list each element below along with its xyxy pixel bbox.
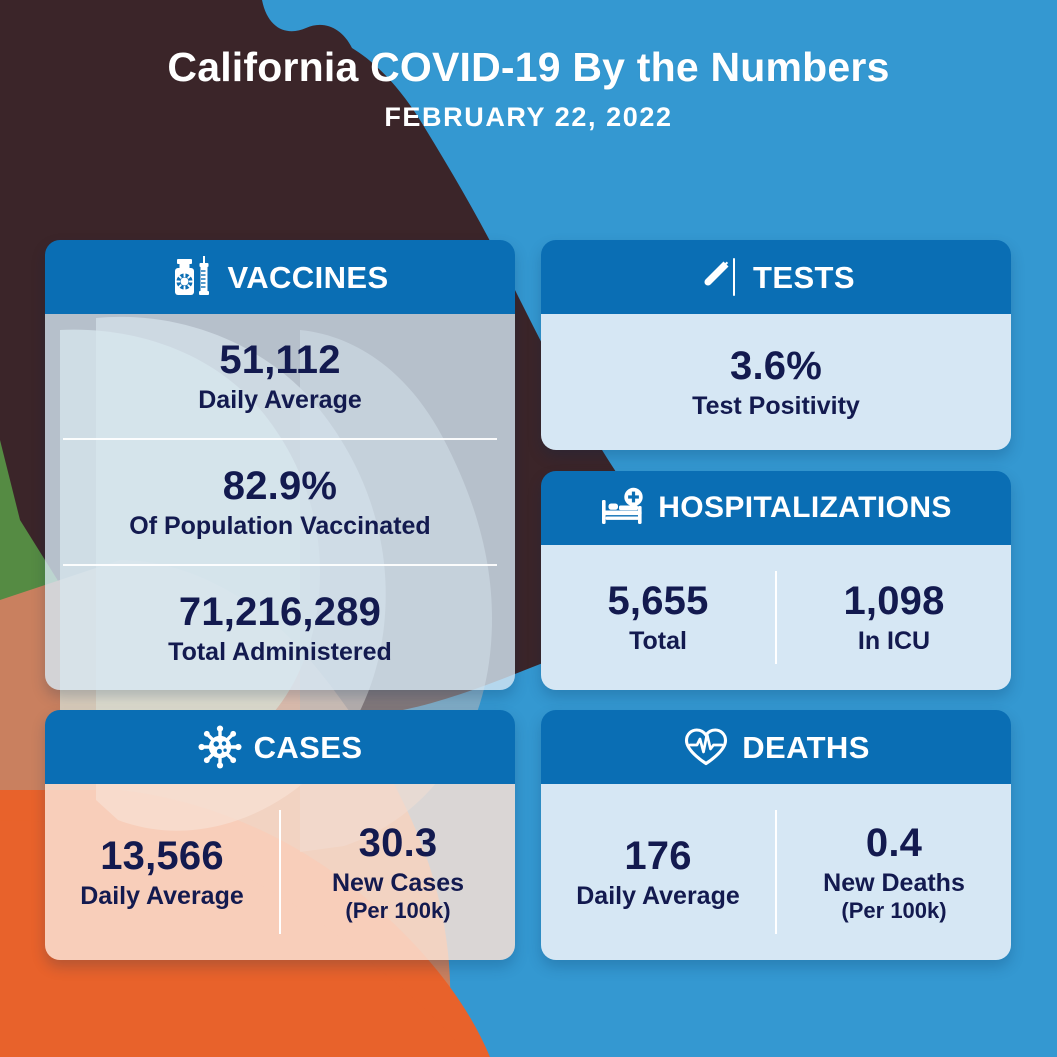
stat-value: 1,098 [843, 579, 944, 624]
card-cases-title: CASES [254, 732, 363, 763]
stat-value: 82.9% [223, 464, 337, 509]
card-hospitalizations: HOSPITALIZATIONS 5,655 Total 1,098 In IC… [541, 471, 1011, 690]
card-hospitalizations-header: HOSPITALIZATIONS [541, 471, 1011, 545]
card-vaccines-title: VACCINES [227, 262, 388, 293]
card-vaccines-body: 51,112 Daily Average 82.9% Of Population… [45, 314, 515, 690]
stat-cases-new-per-100k: 30.3 New Cases (Per 100k) [281, 784, 515, 960]
card-tests-body: 3.6% Test Positivity [541, 314, 1011, 450]
stat-deaths-new-per-100k: 0.4 New Deaths (Per 100k) [777, 784, 1011, 960]
card-vaccines: VACCINES 51,112 Daily Average 82.9% Of P… [45, 240, 515, 690]
stat-vaccines-population-vaccinated: 82.9% Of Population Vaccinated [45, 440, 515, 564]
stat-deaths-daily-average: 176 Daily Average [541, 784, 775, 960]
stat-card-grid: VACCINES 51,112 Daily Average 82.9% Of P… [0, 0, 1057, 1057]
stat-value: 176 [624, 834, 691, 879]
card-deaths-body: 176 Daily Average 0.4 New Deaths (Per 10… [541, 784, 1011, 960]
stat-label: New Cases [332, 869, 464, 898]
stat-value: 51,112 [219, 338, 340, 383]
card-deaths-header: DEATHS [541, 710, 1011, 784]
stat-label: Total Administered [168, 638, 392, 667]
card-tests: TESTS 3.6% Test Positivity [541, 240, 1011, 450]
stat-vaccines-total-administered: 71,216,289 Total Administered [45, 566, 515, 690]
heart-pulse-icon [682, 725, 730, 769]
card-tests-header: TESTS [541, 240, 1011, 314]
card-vaccines-header: VACCINES [45, 240, 515, 314]
card-cases-header: CASES [45, 710, 515, 784]
stat-value: 5,655 [607, 579, 708, 624]
vaccine-vial-syringe-icon [171, 255, 215, 299]
coronavirus-icon [198, 725, 242, 769]
header: California COVID-19 By the Numbers FEBRU… [0, 46, 1057, 133]
infographic-canvas: California COVID-19 By the Numbers FEBRU… [0, 0, 1057, 1057]
card-cases-body: 13,566 Daily Average 30.3 New Cases (Per… [45, 784, 515, 960]
card-hospitalizations-body: 5,655 Total 1,098 In ICU [541, 545, 1011, 690]
hospital-bed-icon [600, 486, 646, 530]
stat-sublabel: (Per 100k) [841, 898, 946, 923]
stat-test-positivity: 3.6% Test Positivity [541, 314, 1011, 450]
stat-label: Total [629, 627, 687, 656]
stat-label: New Deaths [823, 869, 965, 898]
stat-value: 71,216,289 [179, 590, 381, 635]
card-deaths: DEATHS 176 Daily Average 0.4 New Deaths … [541, 710, 1011, 960]
page-title: California COVID-19 By the Numbers [0, 46, 1057, 89]
stat-value: 13,566 [100, 834, 224, 879]
stat-label: Daily Average [80, 882, 244, 911]
card-cases: CASES 13,566 Daily Average 30.3 New Case… [45, 710, 515, 960]
stat-value: 0.4 [866, 821, 922, 866]
card-hospitalizations-title: HOSPITALIZATIONS [658, 493, 952, 523]
test-tube-swab-icon [697, 255, 741, 299]
stat-label: Of Population Vaccinated [129, 512, 430, 541]
stat-vaccines-daily-average: 51,112 Daily Average [45, 314, 515, 438]
stat-label: In ICU [858, 627, 930, 656]
stat-hospitalizations-total: 5,655 Total [541, 545, 775, 690]
stat-label: Test Positivity [692, 392, 860, 421]
card-deaths-title: DEATHS [742, 732, 870, 763]
stat-value: 30.3 [359, 821, 438, 866]
stat-sublabel: (Per 100k) [345, 898, 450, 923]
page-subtitle-date: FEBRUARY 22, 2022 [0, 102, 1057, 133]
stat-value: 3.6% [730, 344, 822, 389]
stat-label: Daily Average [576, 882, 740, 911]
stat-label: Daily Average [198, 386, 362, 415]
card-tests-title: TESTS [753, 262, 855, 293]
stat-hospitalizations-icu: 1,098 In ICU [777, 545, 1011, 690]
stat-cases-daily-average: 13,566 Daily Average [45, 784, 279, 960]
